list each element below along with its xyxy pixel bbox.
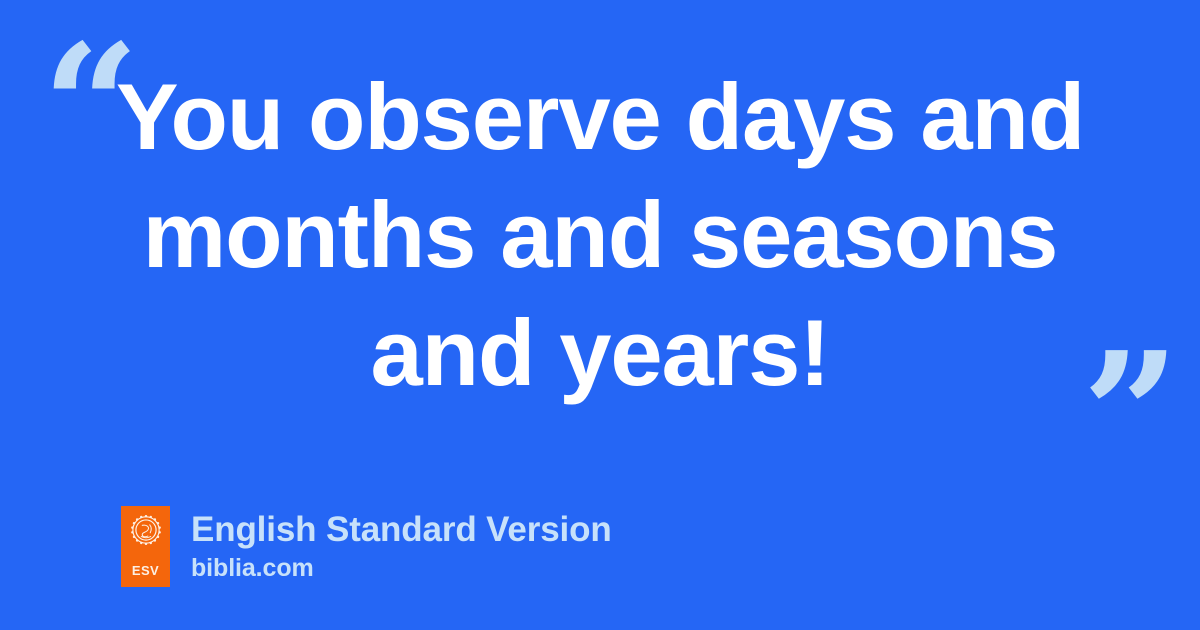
- closing-quote-mark-icon: ”: [1082, 330, 1176, 500]
- attribution[interactable]: ESV English Standard Version biblia.com: [121, 506, 612, 587]
- site-url-label[interactable]: biblia.com: [191, 553, 612, 583]
- attribution-text: English Standard Version biblia.com: [191, 506, 612, 583]
- esv-logo-label: ESV: [121, 564, 170, 577]
- quote-card: “ You observe days and months and season…: [0, 0, 1200, 630]
- bible-version-name: English Standard Version: [191, 509, 612, 551]
- esv-seal-icon: [131, 515, 161, 545]
- quote-text: You observe days and months and seasons …: [60, 58, 1140, 412]
- esv-logo-tile[interactable]: ESV: [121, 506, 170, 587]
